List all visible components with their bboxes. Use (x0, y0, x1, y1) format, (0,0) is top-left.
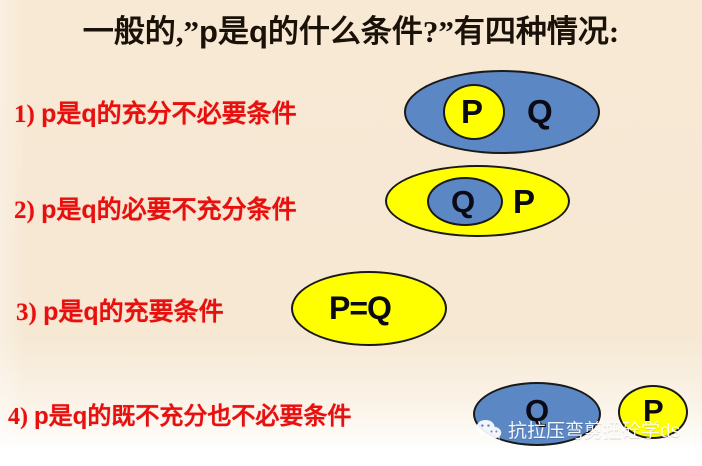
case-4-left-set-label: Q (525, 395, 549, 426)
case-3-variable-q: q (83, 298, 98, 326)
page-title: 一般的,”p是q的什么条件?”有四种情况: (0, 6, 702, 51)
case-4-text: 的既不充分也不必要条件 (87, 404, 351, 430)
title-variable-p: p (199, 14, 218, 49)
case-1-label: 1) p是q的充分不必要条件 (14, 94, 297, 130)
case-4-variable-p: p (34, 403, 49, 430)
case-1-outer-set-label: Q (527, 95, 553, 128)
slide-canvas: 一般的,”p是q的什么条件?”有四种情况: 1) p是q的充分不必要条件 P Q… (0, 0, 702, 466)
title-prefix: 一般的,” (83, 14, 199, 49)
case-1-variable-q: q (81, 100, 96, 128)
case-4-index: 4) (8, 404, 34, 430)
case-3-variable-p: p (43, 298, 58, 326)
case-2-inner-set-label: Q (451, 186, 475, 217)
case-2-variable-p: p (41, 196, 56, 224)
case-1-index: 1) (14, 101, 41, 128)
case-2-middle: 是 (56, 197, 81, 224)
title-variable-q: q (249, 14, 268, 49)
case-4-variable-q: q (73, 403, 88, 430)
case-1-middle: 是 (56, 101, 81, 128)
title-middle: 是 (218, 14, 249, 49)
case-3-middle: 是 (58, 299, 83, 326)
case-3-label: 3) p是q的充要条件 (16, 292, 224, 328)
case-1-variable-p: p (41, 100, 56, 128)
case-3-set-label: P=Q (329, 292, 391, 324)
case-2-variable-q: q (81, 196, 96, 224)
case-2-index: 2) (14, 197, 41, 224)
case-4-right-set-label: P (643, 395, 664, 426)
case-4-label: 4) p是q的既不充分也不必要条件 (8, 396, 351, 431)
case-2-outer-set-label: P (513, 185, 535, 218)
case-1-text: 的充分不必要条件 (97, 101, 297, 128)
case-2-label: 2) p是q的必要不充分条件 (14, 190, 297, 226)
case-1-inner-set-label: P (461, 95, 483, 128)
case-3-text: 的充要条件 (99, 299, 224, 326)
case-3-index: 3) (16, 299, 43, 326)
case-2-text: 的必要不充分条件 (97, 197, 297, 224)
title-suffix: 的什么条件?”有四种情况: (268, 14, 619, 49)
case-4-middle: 是 (49, 404, 73, 430)
